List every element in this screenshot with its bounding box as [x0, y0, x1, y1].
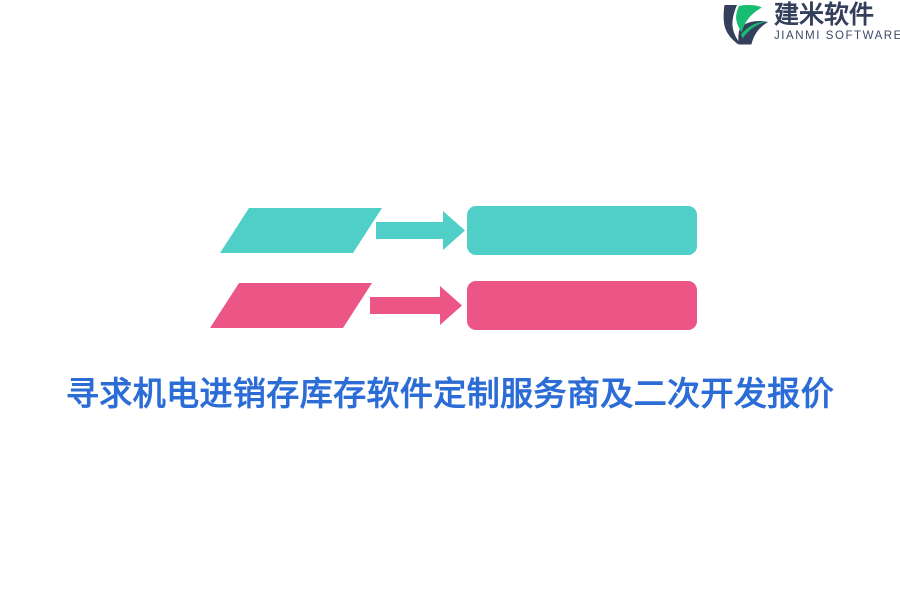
brand-name-cn: 建米软件	[774, 1, 874, 28]
brand-logo[interactable]: 建米软件 JIANMI SOFTWARE	[722, 0, 900, 50]
jianmi-leaf-logo-icon	[722, 1, 770, 47]
pink-parallelogram	[210, 283, 372, 328]
teal-parallelogram	[220, 208, 382, 253]
pink-arrow-icon	[370, 286, 462, 325]
process-flow-diagram	[0, 0, 900, 600]
brand-name-en: JIANMI SOFTWARE	[774, 29, 900, 43]
page-title: 寻求机电进销存库存软件定制服务商及二次开发报价	[0, 366, 900, 422]
flow-row-pink	[210, 281, 697, 330]
teal-rounded-rect	[467, 206, 697, 255]
pink-rounded-rect	[467, 281, 697, 330]
brand-text-block: 建米软件 JIANMI SOFTWARE	[774, 0, 900, 43]
flow-row-teal	[220, 206, 697, 255]
page-root: 建米软件 JIANMI SOFTWARE 寻求机电进销存库存软件定	[0, 0, 900, 600]
teal-arrow-icon	[376, 211, 465, 250]
